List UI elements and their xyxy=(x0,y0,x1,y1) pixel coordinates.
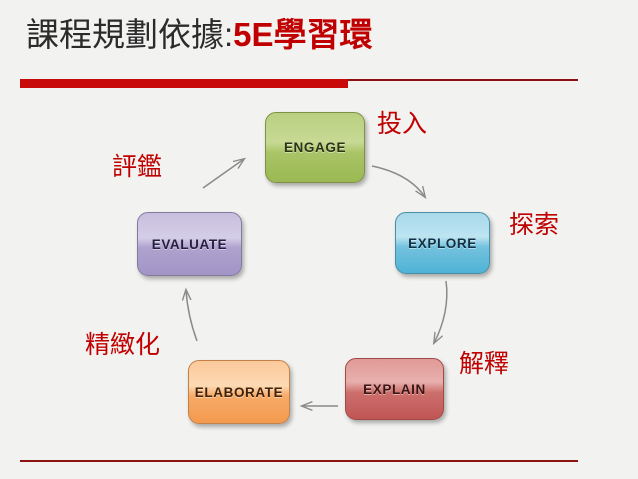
stage-box-explore[interactable]: EXPLORE xyxy=(395,212,490,274)
arrow-engage-to-explore xyxy=(372,166,425,197)
arrow-elaborate-to-evaluate xyxy=(186,290,197,341)
page-title-accent: 5E學習環 xyxy=(233,16,372,53)
page-title-prefix: 課程規劃依據: xyxy=(26,16,233,53)
stage-box-evaluate[interactable]: EVALUATE xyxy=(137,212,242,276)
annotation-explore: 探索 xyxy=(509,210,559,240)
arrow-evaluate-to-engage xyxy=(203,159,244,188)
stage-label-evaluate: EVALUATE xyxy=(152,237,228,252)
annotation-engage: 投入 xyxy=(377,109,427,139)
footer-rule xyxy=(20,460,578,462)
header-thick-rule xyxy=(20,79,348,88)
annotation-evaluate: 評鑑 xyxy=(112,152,162,182)
slide-canvas: 課程規劃依據:5E學習環 ENGAGE EXPLORE EXPLAIN ELAB… xyxy=(0,0,638,479)
annotation-explain: 解釋 xyxy=(459,349,509,379)
stage-label-elaborate: ELABORATE xyxy=(195,385,283,400)
stage-label-explain: EXPLAIN xyxy=(363,382,426,397)
stage-box-engage[interactable]: ENGAGE xyxy=(265,112,365,183)
stage-box-elaborate[interactable]: ELABORATE xyxy=(188,360,290,424)
stage-label-engage: ENGAGE xyxy=(284,140,346,155)
stage-box-explain[interactable]: EXPLAIN xyxy=(345,358,444,420)
annotation-elaborate: 精緻化 xyxy=(85,330,160,360)
arrow-explore-to-explain xyxy=(434,281,447,343)
page-title: 課程規劃依據:5E學習環 xyxy=(26,13,373,57)
stage-label-explore: EXPLORE xyxy=(408,236,477,251)
